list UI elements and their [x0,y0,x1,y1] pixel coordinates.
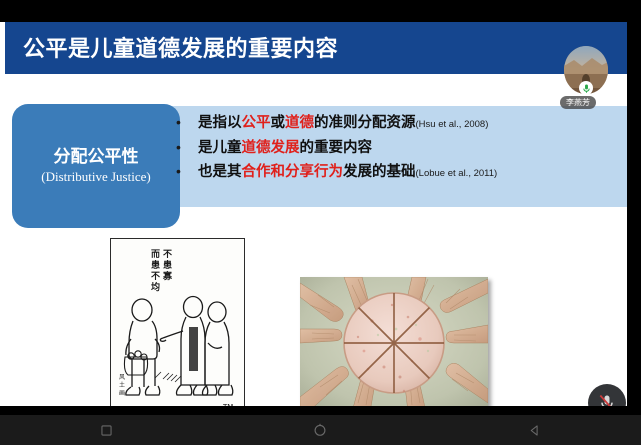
svg-text:患: 患 [151,259,160,271]
square-icon [100,424,113,437]
bullet-seg-highlight: 公平 [242,115,271,131]
bullet-list: • 是指以公平或道德的准则分配资源(Hsu et al., 2008) • 是儿… [176,115,628,189]
bullet-marker-icon: • [176,140,198,154]
bullet-text: 是儿童道德发展的重要内容 [198,140,372,157]
slide-title-bar: 公平是儿童道德发展的重要内容 [5,22,634,74]
pizza-sharing-illustration [300,277,488,412]
microphone-on-icon [581,83,592,94]
back-button[interactable] [514,415,554,445]
bullet-seg-highlight: 道德发展 [242,140,300,156]
bullet-seg-highlight: 道德 [285,115,314,131]
svg-text:画: 画 [119,390,125,397]
avatar-mic-status [579,81,593,95]
circle-icon [313,423,327,437]
concept-box-english-label: (Distributive Justice) [41,169,150,185]
bullet-citation: (Hsu et al., 2008) [416,119,489,130]
self-view-avatar[interactable] [564,46,608,94]
presentation-slide[interactable]: 公平是儿童道德发展的重要内容 分配公平性 (Distributive Justi… [0,22,634,406]
bullet-item: • 也是其合作和分享行为发展的基础(Lobue et al., 2011) [176,164,628,181]
svg-text:寡: 寡 [162,270,173,282]
bullet-item: • 是指以公平或道德的准则分配资源(Hsu et al., 2008) [176,115,628,132]
bullet-marker-icon: • [176,164,198,178]
svg-text:而: 而 [151,249,160,260]
bullet-text: 是指以公平或道德的准则分配资源(Hsu et al., 2008) [198,115,488,132]
bullet-item: • 是儿童道德发展的重要内容 [176,140,628,157]
svg-text:不: 不 [163,249,172,260]
device-screen: 公平是儿童道德发展的重要内容 分配公平性 (Distributive Justi… [0,0,641,445]
svg-text:不: 不 [151,271,160,282]
bullet-seg: 的准则分配资源 [314,115,416,131]
bullet-seg: 的重要内容 [300,140,373,156]
bullet-seg: 或 [271,115,286,131]
letterbox-bottom [0,406,641,415]
bullet-citation: (Lobue et al., 2011) [416,168,498,179]
bullet-seg: 是指以 [198,115,242,131]
home-button[interactable] [300,415,340,445]
svg-text:均: 均 [151,281,160,293]
bullet-text: 也是其合作和分享行为发展的基础(Lobue et al., 2011) [198,164,497,181]
triangle-left-icon [528,424,541,437]
ink-drawing-illustration: 不患寡 而患不均 [111,239,244,415]
svg-text:风: 风 [119,374,125,381]
android-navbar [0,415,641,445]
bullet-seg-highlight: 合作和分享行为 [242,164,344,180]
concept-box-chinese-label: 分配公平性 [54,147,139,168]
pizza-sharing-image [300,277,488,412]
concept-box: 分配公平性 (Distributive Justice) [12,104,180,228]
page-title: 公平是儿童道德发展的重要内容 [23,31,338,63]
recents-button[interactable] [87,415,127,445]
right-letterbox [627,0,634,415]
svg-text:土: 土 [119,381,125,389]
bullet-seg: 是儿童 [198,140,242,156]
ink-drawing-image: 不患寡 而患不均 [110,238,245,415]
letterbox-top [0,0,634,22]
bullet-seg: 也是其 [198,164,242,180]
screen-share-region[interactable]: 公平是儿童道德发展的重要内容 分配公平性 (Distributive Justi… [0,0,634,415]
bullet-seg: 发展的基础 [343,164,416,180]
self-view-name-badge: 李燕芳 [560,96,596,109]
svg-text:患: 患 [163,259,172,271]
bullet-marker-icon: • [176,115,198,129]
